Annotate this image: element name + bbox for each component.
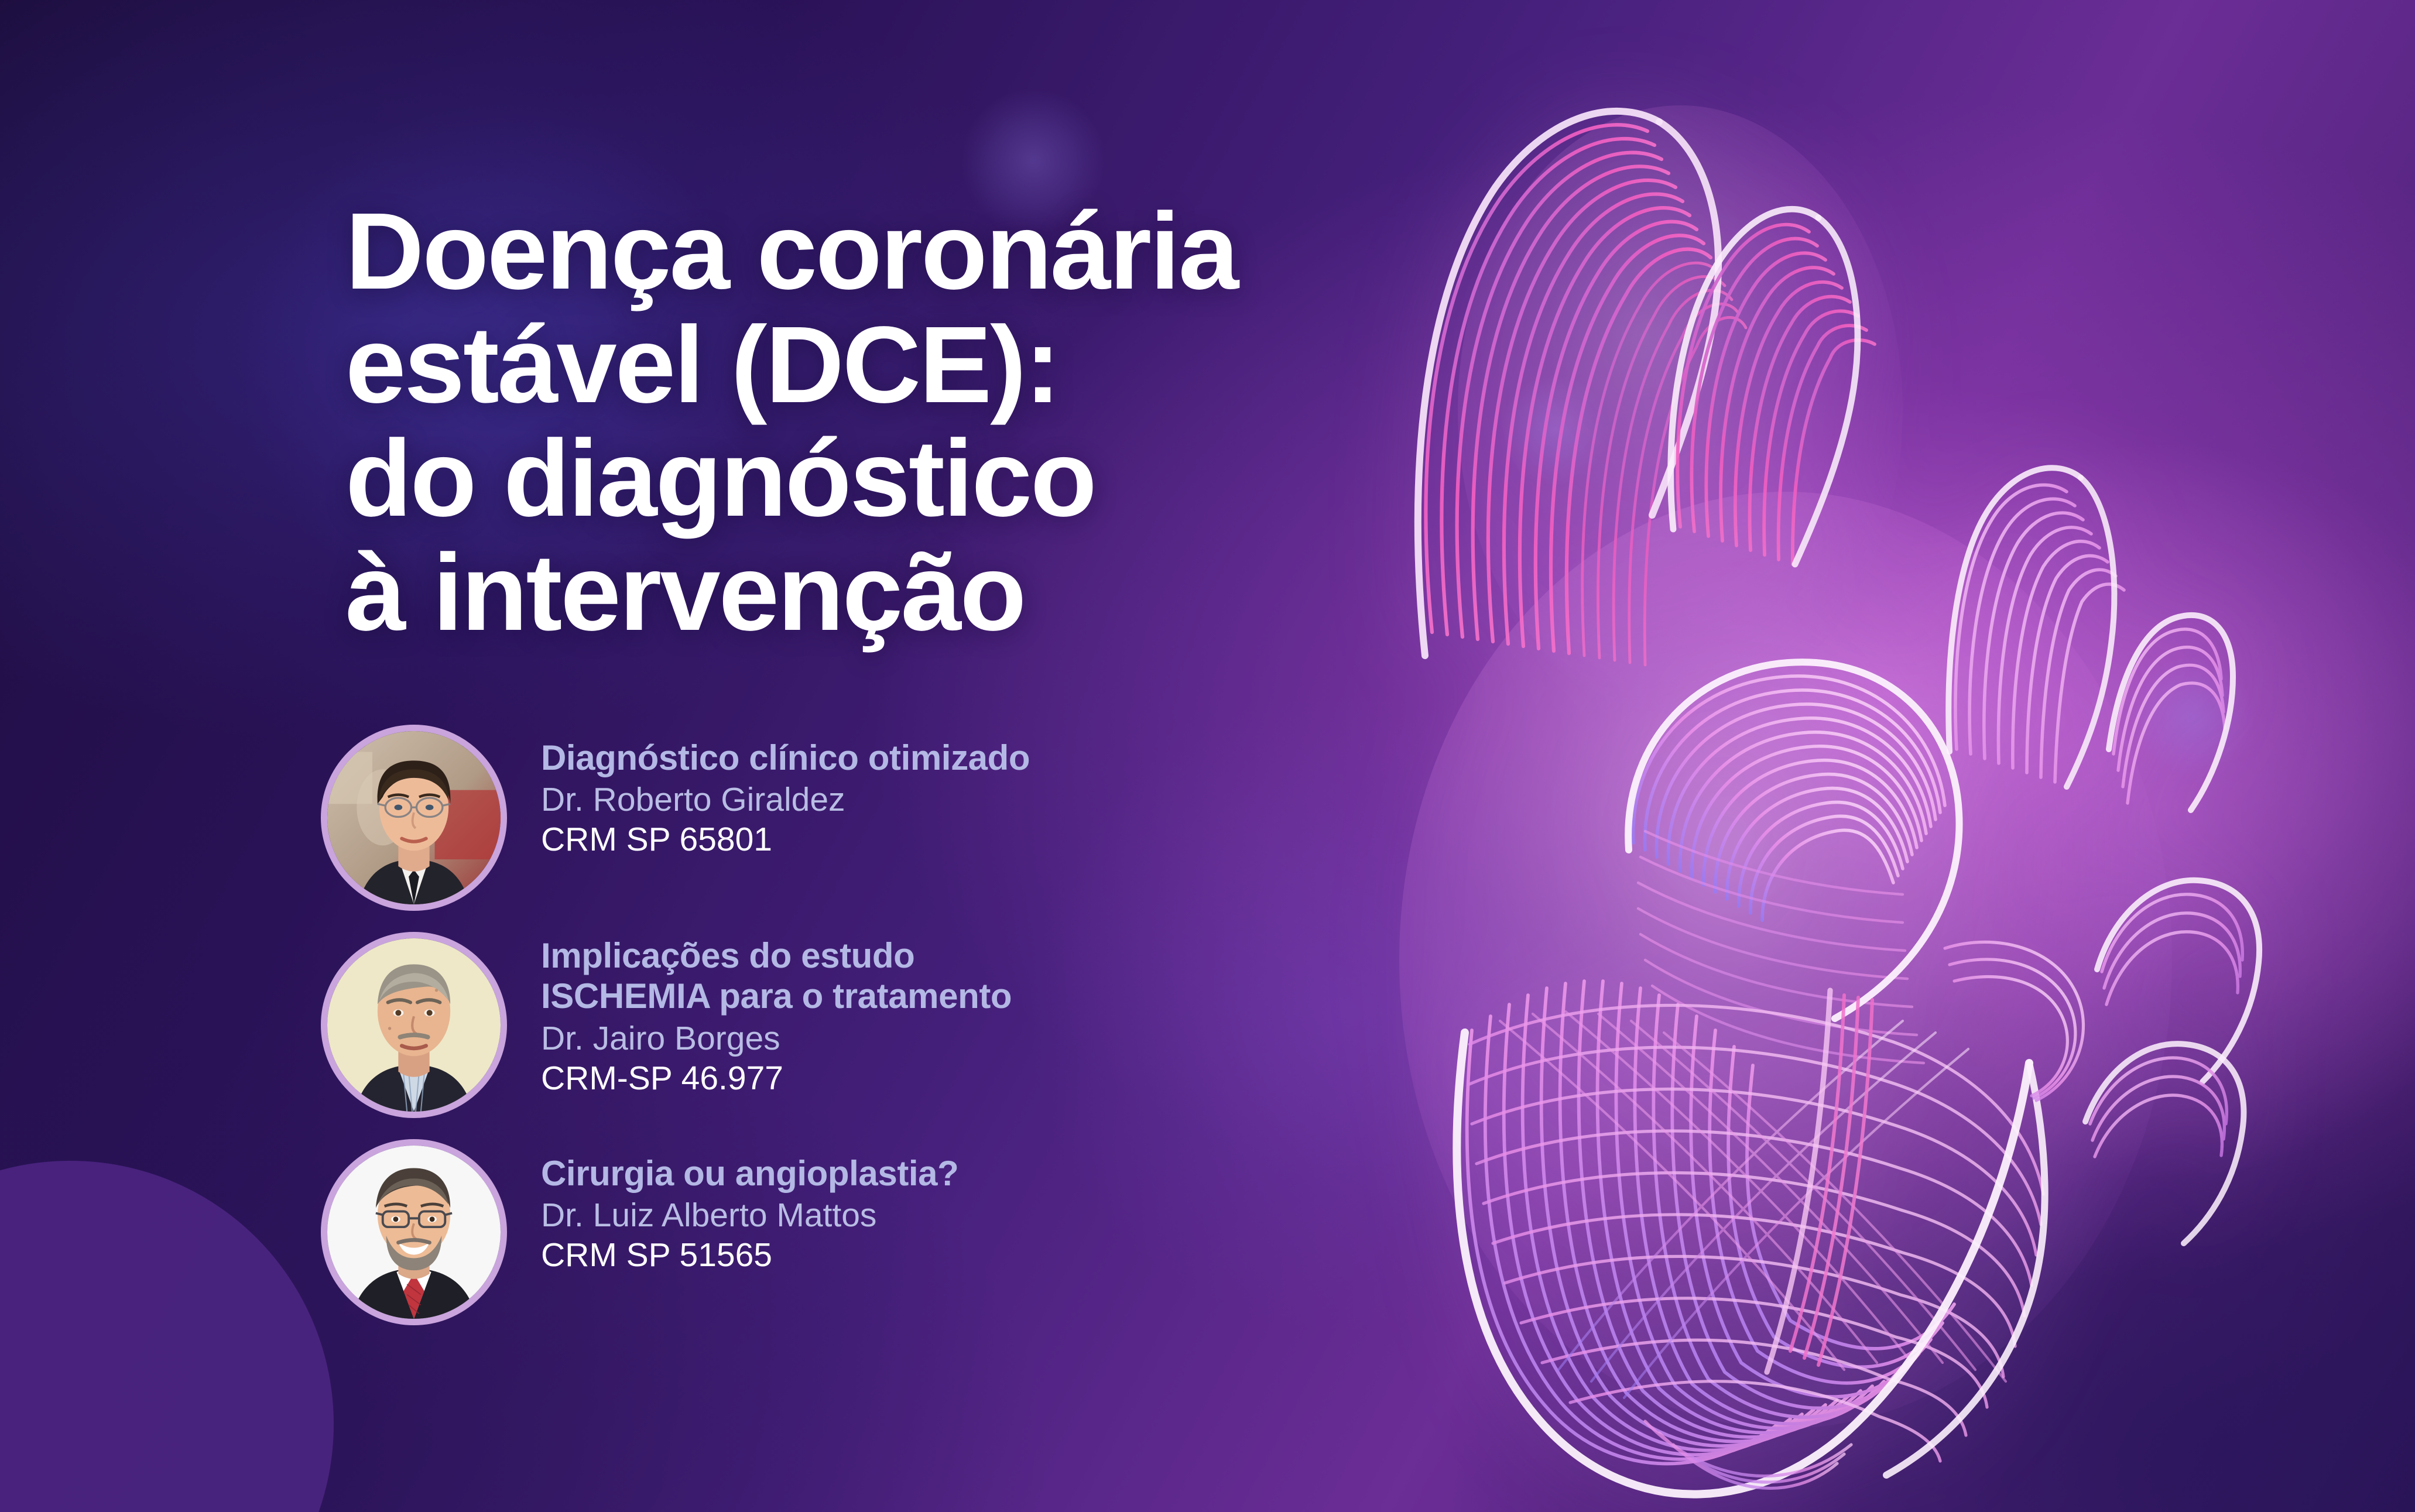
- background-speck: [1499, 375, 1610, 486]
- speaker-details: Diagnóstico clínico otimizado Dr. Robert…: [541, 725, 1030, 859]
- speaker-crm: CRM SP 65801: [541, 820, 1030, 859]
- event-slide: Doença coronária estável (DCE): do diagn…: [0, 0, 2415, 1512]
- speaker-topic: Diagnóstico clínico otimizado: [541, 738, 1030, 778]
- speaker-crm: CRM SP 51565: [541, 1236, 958, 1274]
- avatar-roberto-giraldez: [321, 725, 507, 911]
- speaker-item[interactable]: Diagnóstico clínico otimizado Dr. Robert…: [321, 725, 1433, 911]
- speaker-topic: Implicações do estudo ISCHEMIA para o tr…: [541, 935, 1012, 1017]
- background-speck: [2131, 656, 2254, 779]
- decorative-circle-bottom-left: [0, 1161, 334, 1512]
- avatar-jairo-borges: [321, 932, 507, 1118]
- speaker-topic: Cirurgia ou angioplastia?: [541, 1153, 958, 1194]
- speaker-name: Dr. Roberto Giraldez: [541, 780, 1030, 819]
- speaker-crm: CRM-SP 46.977: [541, 1059, 1012, 1098]
- page-title: Doença coronária estável (DCE): do diagn…: [345, 195, 1458, 650]
- speaker-name: Dr. Luiz Alberto Mattos: [541, 1196, 958, 1235]
- speaker-item[interactable]: Implicações do estudo ISCHEMIA para o tr…: [321, 932, 1433, 1118]
- speaker-list: Diagnóstico clínico otimizado Dr. Robert…: [321, 725, 1433, 1325]
- speaker-item[interactable]: Cirurgia ou angioplastia? Dr. Luiz Alber…: [321, 1139, 1433, 1325]
- speaker-details: Cirurgia ou angioplastia? Dr. Luiz Alber…: [541, 1139, 958, 1275]
- avatar-luiz-alberto-mattos: [321, 1139, 507, 1325]
- background-glow-right: [1786, 445, 2415, 1177]
- speaker-name: Dr. Jairo Borges: [541, 1019, 1012, 1058]
- speaker-details: Implicações do estudo ISCHEMIA para o tr…: [541, 932, 1012, 1098]
